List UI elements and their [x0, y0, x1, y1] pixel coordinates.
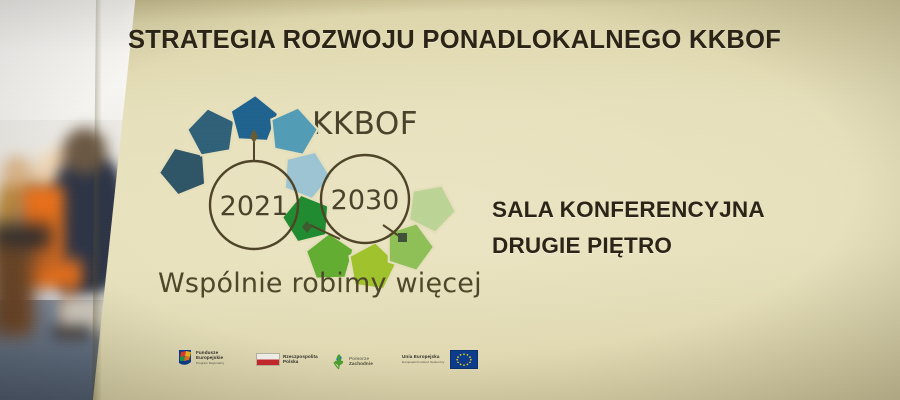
milestone-label-2021: 2021 — [220, 191, 289, 222]
funding-logo-strip: Fundusze Europejskie Program Regionalny … — [178, 347, 498, 375]
tagline: Wspólnie robimy więcej — [158, 268, 482, 299]
pentagon-chain-svg: 2021 2030 — [150, 95, 470, 295]
eu-flag-icon — [450, 350, 478, 369]
hall-line-1: SALA KONFERENCYJNA — [492, 192, 765, 228]
logo-pomorze-zachodnie: Pomorze Zachodnie — [332, 353, 373, 370]
milestone-label-2030: 2030 — [331, 185, 400, 216]
poland-flag-icon — [256, 353, 280, 366]
hall-line-2: DRUGIE PIĘTRO — [492, 228, 765, 264]
ue-line3: Europejski Fundusz Społeczny — [402, 361, 444, 364]
logo-fundusze-europejskie: Fundusze Europejskie Program Regionalny — [178, 349, 224, 367]
hall-info: SALA KONFERENCYJNA DRUGIE PIĘTRO — [492, 192, 765, 264]
rp-line2: Polska — [283, 360, 318, 365]
screenshot-root: STRATEGIA ROZWOJU PONADLOKALNEGO KKBOF K… — [0, 0, 900, 400]
fe-line3: Program Regionalny — [196, 362, 224, 365]
fundusze-europejskie-mark — [178, 349, 193, 367]
pz-line2: Zachodnie — [349, 362, 373, 367]
logo-rzeczpospolita-polska: Rzeczpospolita Polska — [256, 353, 318, 366]
logo-unia-europejska: Unia Europejska Europejski Fundusz Społe… — [402, 350, 478, 369]
kkbof-logo-graphic: 2021 2030 — [150, 95, 470, 295]
pentagons-blue — [153, 95, 338, 203]
page-title: STRATEGIA ROZWOJU PONADLOKALNEGO KKBOF — [128, 26, 788, 55]
pomorze-zachodnie-griffin-icon — [332, 353, 346, 370]
